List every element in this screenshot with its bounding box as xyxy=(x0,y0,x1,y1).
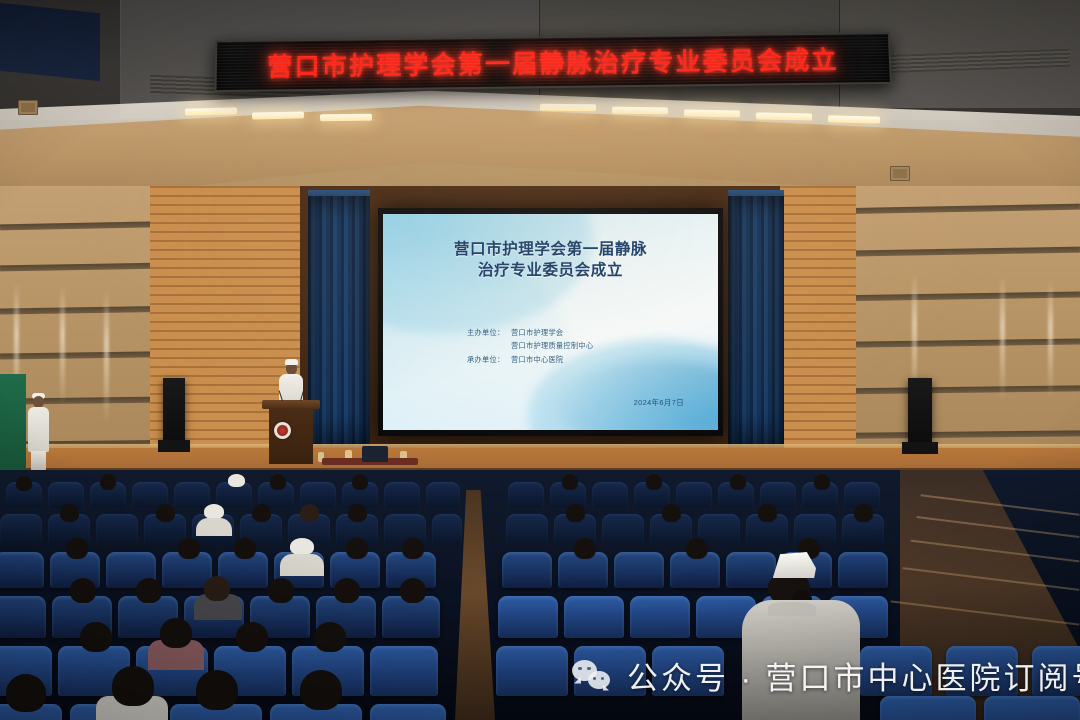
wall-vent-far-left xyxy=(18,100,38,115)
attendee-head xyxy=(100,474,116,490)
wood-slat-wall-right xyxy=(778,186,856,476)
loudspeaker-right xyxy=(908,378,932,442)
stage-monitor xyxy=(362,446,388,462)
attendee-head xyxy=(334,578,360,603)
seat[interactable] xyxy=(564,596,624,638)
attendee-head-nurse-cap xyxy=(228,474,245,487)
slide-host-row-2: 营口市护理质量控制中心 xyxy=(467,339,593,352)
seat[interactable] xyxy=(384,482,420,508)
slide-title-line1: 营口市护理学会第一届静脉 xyxy=(383,240,718,261)
attendee-head xyxy=(268,578,294,603)
seat[interactable] xyxy=(946,646,1018,696)
attendee-head xyxy=(236,622,268,652)
seat[interactable] xyxy=(370,646,438,696)
auditorium-photo: 营口市护理学会第一届静脉治疗专业委员会成立 营口市护理学会第一届静脉 治疗专业委… xyxy=(0,0,1080,720)
seat[interactable] xyxy=(96,514,138,544)
seat[interactable] xyxy=(880,696,976,720)
slide-organizer-row: 承办单位： 营口市中心医院 xyxy=(467,353,593,366)
attendee-head xyxy=(402,538,424,559)
seat[interactable] xyxy=(984,696,1080,720)
slide-organizations: 主办单位： 营口市护理学会 营口市护理质量控制中心 承办单位： 营口市中心医院 xyxy=(467,326,593,366)
ceiling-blue-panel xyxy=(0,3,100,82)
attendee-head xyxy=(80,622,112,652)
attendee-head xyxy=(60,504,79,522)
attendee-head xyxy=(204,576,230,601)
attendee-head xyxy=(758,504,777,522)
attendee-head xyxy=(574,538,596,559)
seat[interactable] xyxy=(630,596,690,638)
foreground-nurse-cap xyxy=(770,552,816,578)
projection-screen: 营口市护理学会第一届静脉 治疗专业委员会成立 主办单位： 营口市护理学会 营口市… xyxy=(378,208,723,436)
attendee-head xyxy=(730,474,746,490)
attendee-head xyxy=(270,474,286,490)
attendee-head xyxy=(178,538,200,559)
seat[interactable] xyxy=(614,552,664,588)
loudspeaker-right-base xyxy=(902,442,938,454)
attendee-head xyxy=(196,670,238,710)
seat[interactable] xyxy=(498,596,558,638)
foreground-nurse xyxy=(742,552,862,720)
attendee-head xyxy=(252,504,271,522)
attendee-head xyxy=(854,504,873,522)
stage-curtain-right xyxy=(728,196,784,458)
attendee-head xyxy=(6,674,46,712)
slide-title: 营口市护理学会第一届静脉 治疗专业委员会成立 xyxy=(383,240,718,282)
strip-light-2 xyxy=(252,111,304,119)
standing-nurse-left xyxy=(26,396,52,470)
attendee-head xyxy=(112,666,154,706)
slide-organizer-org: 营口市中心医院 xyxy=(511,353,563,366)
attendee-shoulders xyxy=(196,518,232,536)
slide-host-label: 主办单位： xyxy=(467,326,511,339)
attendee-head xyxy=(16,476,32,491)
wall-sheen-6 xyxy=(1000,276,1005,402)
attendee-head xyxy=(136,578,162,603)
attendee-head xyxy=(352,474,368,490)
attendee-head xyxy=(400,578,426,603)
slide-host-org2: 营口市护理质量控制中心 xyxy=(511,339,593,352)
seat[interactable] xyxy=(602,514,644,544)
seat[interactable] xyxy=(574,646,646,696)
exit-door[interactable] xyxy=(0,374,26,470)
led-banner-text: 营口市护理学会第一届静脉治疗专业委员会成立 xyxy=(267,41,839,84)
seat[interactable] xyxy=(496,646,568,696)
foreground-nurse-uniform xyxy=(742,600,860,720)
attendee-shoulders xyxy=(280,554,324,576)
strip-light-8 xyxy=(828,115,880,123)
podium xyxy=(262,392,320,464)
attendee-head xyxy=(566,504,585,522)
attendee-head xyxy=(346,538,368,559)
wall-sheen-3 xyxy=(104,290,109,425)
seat[interactable] xyxy=(592,482,628,508)
attendee-head xyxy=(314,622,346,652)
strip-light-3 xyxy=(320,114,372,122)
presenter-nurse-cap xyxy=(285,359,298,365)
seat[interactable] xyxy=(506,514,548,544)
foreground-nurse-collar xyxy=(768,602,816,616)
attendee-head xyxy=(160,618,192,648)
seat[interactable] xyxy=(860,646,932,696)
standing-nurse-legs xyxy=(31,451,46,470)
slide-host-spacer xyxy=(467,339,511,352)
attendee-head xyxy=(562,474,578,490)
led-banner: 营口市护理学会第一届静脉治疗专业委员会成立 xyxy=(214,32,892,92)
attendee-head xyxy=(156,504,175,522)
seat[interactable] xyxy=(508,482,544,508)
attendee-head xyxy=(646,474,662,490)
attendee-head xyxy=(300,670,342,710)
seat[interactable] xyxy=(0,596,46,638)
attendee-head xyxy=(70,578,96,603)
seat[interactable] xyxy=(1032,646,1080,696)
seat[interactable] xyxy=(432,514,462,544)
wall-sheen-2 xyxy=(60,286,65,406)
attendee-head xyxy=(300,504,319,522)
seat[interactable] xyxy=(426,482,460,508)
strip-light-4 xyxy=(540,104,596,112)
attendee-head xyxy=(814,474,830,490)
strip-light-6 xyxy=(684,110,740,118)
standing-nurse-body xyxy=(28,407,49,452)
audience-seating xyxy=(0,470,1080,720)
attendee-head-nurse-cap xyxy=(204,504,224,519)
wall-vent-right xyxy=(890,166,910,181)
attendee-head xyxy=(348,504,367,522)
seat[interactable] xyxy=(698,514,740,544)
hospital-crest-emblem xyxy=(274,422,291,439)
seat[interactable] xyxy=(676,482,712,508)
slide-host-row-1: 主办单位： 营口市护理学会 xyxy=(467,326,593,339)
attendee-head xyxy=(66,538,88,559)
strip-light-7 xyxy=(756,112,812,120)
seat[interactable] xyxy=(370,704,446,720)
slide-date: 2024年6月7日 xyxy=(634,397,684,408)
attendee-head xyxy=(662,504,681,522)
slide-host-org1: 营口市护理学会 xyxy=(511,326,563,339)
slide-title-line2: 治疗专业委员会成立 xyxy=(383,261,718,282)
attendee-head xyxy=(686,538,708,559)
attendee-head xyxy=(234,538,256,559)
attendee-head-nurse-cap xyxy=(290,538,314,555)
presentation-slide: 营口市护理学会第一届静脉 治疗专业委员会成立 主办单位： 营口市护理学会 营口市… xyxy=(383,214,718,430)
seat[interactable] xyxy=(502,552,552,588)
seat[interactable] xyxy=(174,482,210,508)
slide-organizer-label: 承办单位： xyxy=(467,353,511,366)
seat[interactable] xyxy=(652,646,724,696)
seat[interactable] xyxy=(0,514,42,544)
strip-light-5 xyxy=(612,107,668,115)
seat[interactable] xyxy=(0,552,44,588)
strip-light-1 xyxy=(185,107,237,115)
wall-sheen-7 xyxy=(1048,280,1053,398)
loudspeaker-left xyxy=(163,378,185,440)
loudspeaker-left-base xyxy=(158,440,190,452)
